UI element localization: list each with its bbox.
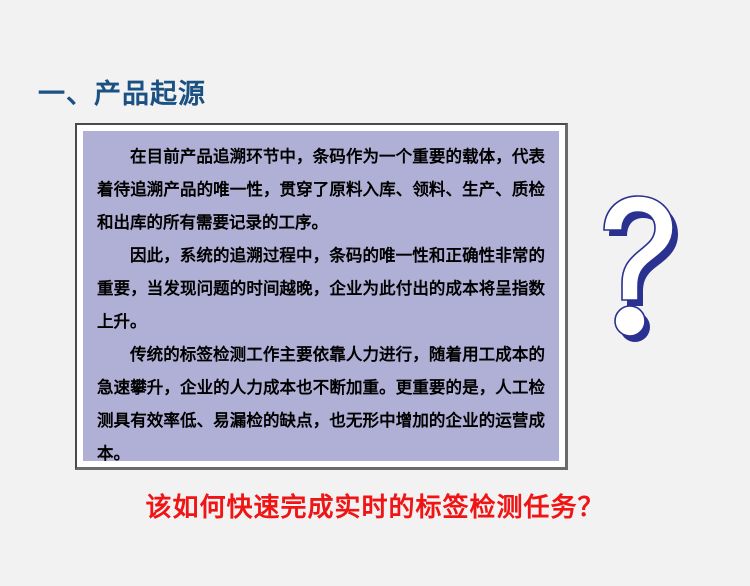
content-box: 在目前产品追溯环节中，条码作为一个重要的载体，代表着待追溯产品的唯一性，贯穿了原… (75, 123, 568, 470)
page-title: 一、产品起源 (38, 78, 206, 112)
body-paragraph-2: 因此，系统的追溯过程中，条码的唯一性和正确性非常的重要，当发现问题的时间越晚，企… (97, 239, 545, 338)
body-paragraph-3: 传统的标签检测工作主要依靠人力进行，随着用工成本的急速攀升，企业的人力成本也不断… (97, 338, 545, 461)
content-box-inner: 在目前产品追溯环节中，条码作为一个重要的载体，代表着待追溯产品的唯一性，贯穿了原… (83, 131, 559, 461)
body-paragraph-1: 在目前产品追溯环节中，条码作为一个重要的载体，代表着待追溯产品的唯一性，贯穿了原… (97, 140, 545, 239)
slide-canvas: 一、产品起源 在目前产品追溯环节中，条码作为一个重要的载体，代表着待追溯产品的唯… (0, 0, 750, 586)
question-mark-icon (588, 188, 688, 348)
callout-question: 该如何快速完成实时的标签检测任务？ (0, 490, 750, 526)
